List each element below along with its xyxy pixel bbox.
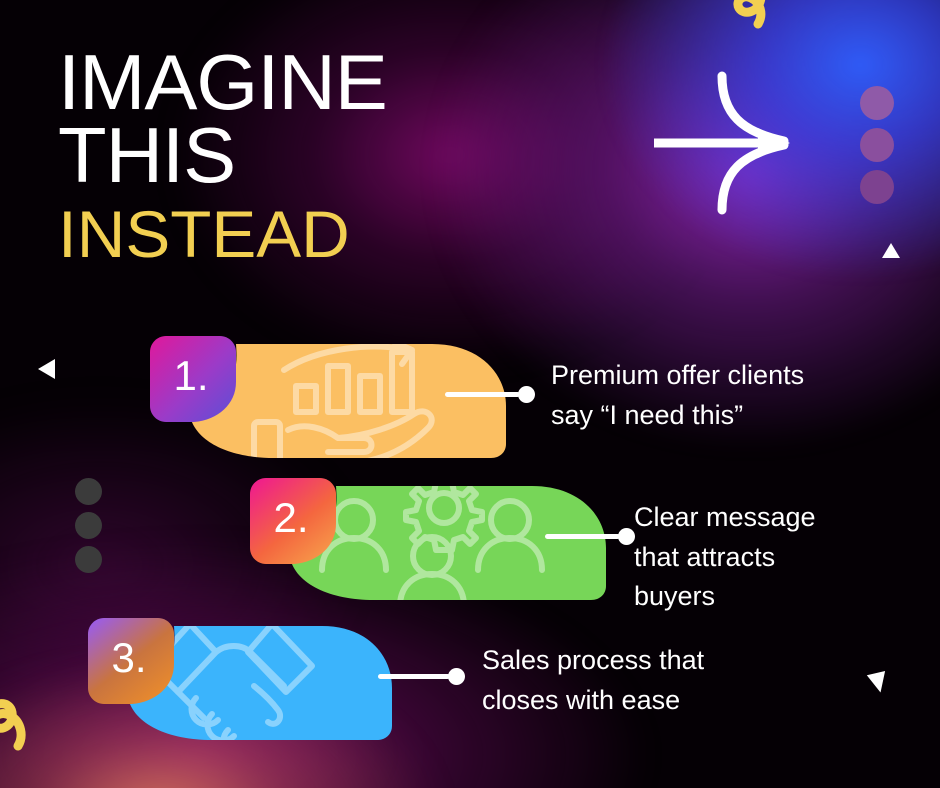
card-1-caption-line-1: Premium offer clients (551, 356, 804, 396)
card-2-connector (545, 528, 635, 545)
dot-icon (75, 546, 102, 573)
dot-icon (75, 478, 102, 505)
card-3-badge: 3. (88, 618, 174, 704)
connector-line (445, 392, 520, 397)
card-2-badge: 2. (250, 478, 336, 564)
connector-line (545, 534, 620, 539)
card-2-caption-line-2: that attracts (634, 538, 816, 578)
triangle-up-icon (882, 243, 900, 258)
triangle-left-icon (38, 359, 55, 379)
yellow-squiggle-top-icon (726, 0, 802, 55)
dot-cluster-right (860, 86, 894, 204)
connector-knob (448, 668, 465, 685)
card-1-connector (445, 386, 535, 403)
card-2-caption-line-1: Clear message (634, 498, 816, 538)
card-3-caption-line-1: Sales process that (482, 641, 704, 681)
dot-icon (860, 170, 894, 204)
dot-cluster-left (75, 478, 102, 573)
headline-line-2: THIS (58, 119, 387, 192)
poster-canvas: IMAGINE THIS INSTEAD (0, 0, 940, 788)
headline-line-3: INSTEAD (58, 203, 387, 265)
card-3-connector (378, 668, 465, 685)
card-1-caption: Premium offer clients say “I need this” (551, 356, 804, 435)
connector-knob (518, 386, 535, 403)
converging-arrow-icon (650, 68, 800, 223)
card-3-number: 3. (88, 618, 174, 704)
card-2-caption: Clear message that attracts buyers (634, 498, 816, 617)
yellow-squiggle-bottom-icon (0, 690, 58, 757)
card-2-number: 2. (250, 478, 336, 564)
connector-line (378, 674, 450, 679)
card-3-caption-line-2: closes with ease (482, 681, 704, 721)
card-2-caption-line-3: buyers (634, 577, 816, 617)
dot-icon (860, 128, 894, 162)
triangle-down-left-icon (864, 667, 885, 692)
dot-icon (860, 86, 894, 120)
card-1-number: 1. (150, 336, 236, 422)
headline-block: IMAGINE THIS INSTEAD (58, 46, 380, 265)
card-1-caption-line-2: say “I need this” (551, 396, 804, 436)
dot-icon (75, 512, 102, 539)
headline-line-1: IMAGINE (58, 46, 387, 119)
card-1-badge: 1. (150, 336, 236, 422)
card-3-caption: Sales process that closes with ease (482, 641, 704, 720)
connector-knob (618, 528, 635, 545)
